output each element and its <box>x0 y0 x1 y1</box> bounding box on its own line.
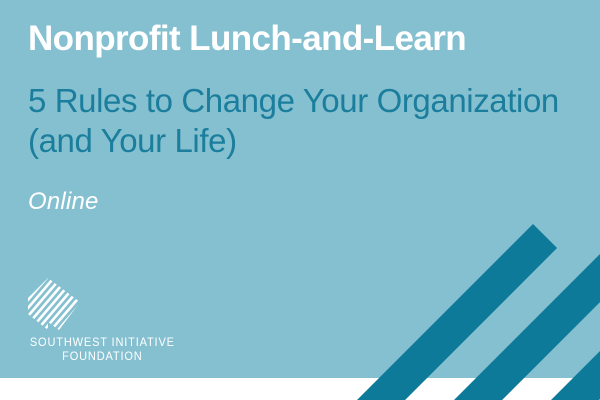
event-promo-card: Nonprofit Lunch-and-Learn 5 Rules to Cha… <box>0 0 600 400</box>
wordmark-line-1: SOUTHWEST INITIATIVE <box>26 335 179 349</box>
card-text-block: Nonprofit Lunch-and-Learn 5 Rules to Cha… <box>28 0 573 214</box>
event-location: Online <box>28 161 573 214</box>
organization-logo: SOUTHWEST INITIATIVE FOUNDATION <box>26 276 206 363</box>
event-series-title: Nonprofit Lunch-and-Learn <box>28 0 573 58</box>
event-session-title: 5 Rules to Change Your Organization (and… <box>28 58 568 162</box>
wordmark-line-2: FOUNDATION <box>26 349 179 363</box>
striped-diamond-icon <box>26 276 82 332</box>
organization-wordmark: SOUTHWEST INITIATIVE FOUNDATION <box>26 335 179 363</box>
